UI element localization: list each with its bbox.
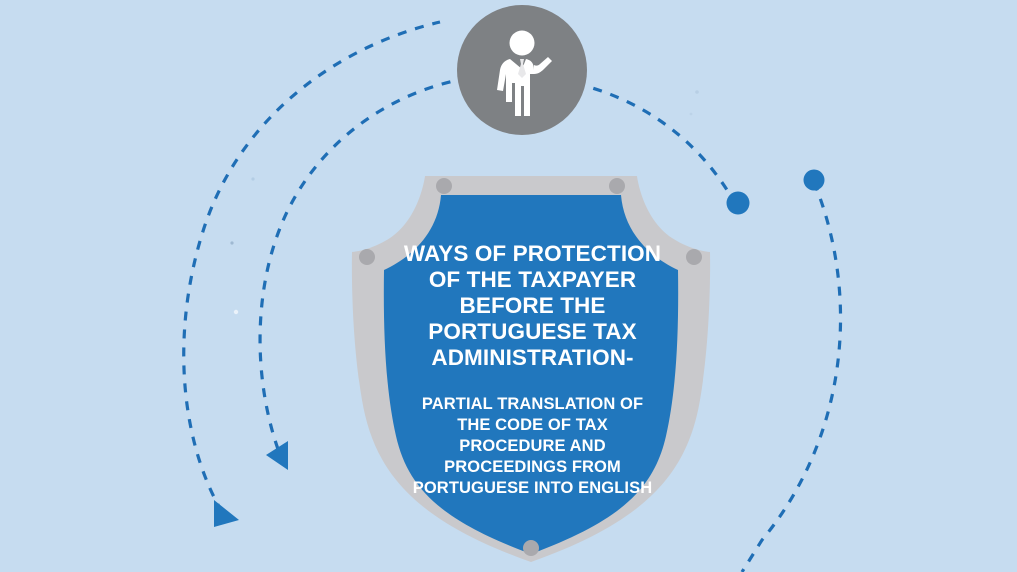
shield-rivet-right xyxy=(686,249,702,265)
slide-canvas: WAYS OF PROTECTION OF THE TAXPAYER BEFOR… xyxy=(0,0,1017,572)
outer-arc-endpoint-dot xyxy=(804,170,825,191)
shield-text-block: WAYS OF PROTECTION OF THE TAXPAYER BEFOR… xyxy=(403,241,662,499)
speck-dot xyxy=(234,310,238,314)
shield-title: WAYS OF PROTECTION OF THE TAXPAYER BEFOR… xyxy=(403,241,662,371)
outer-dashed-arc xyxy=(742,182,841,572)
arrowhead-upper-left-icon xyxy=(214,500,239,527)
speck-dot xyxy=(690,113,693,116)
shield-rivet-bottom xyxy=(523,540,539,556)
shield-rivet-top-left xyxy=(436,178,452,194)
shield-rivet-top-right xyxy=(609,178,625,194)
speck-dot xyxy=(230,241,233,244)
shield-rivet-left xyxy=(359,249,375,265)
inner-arc-endpoint-dot xyxy=(727,192,750,215)
speck-dot xyxy=(695,90,699,94)
shield-subtitle: PARTIAL TRANSLATION OF THE CODE OF TAX P… xyxy=(403,394,662,499)
speck-dot xyxy=(251,177,254,180)
